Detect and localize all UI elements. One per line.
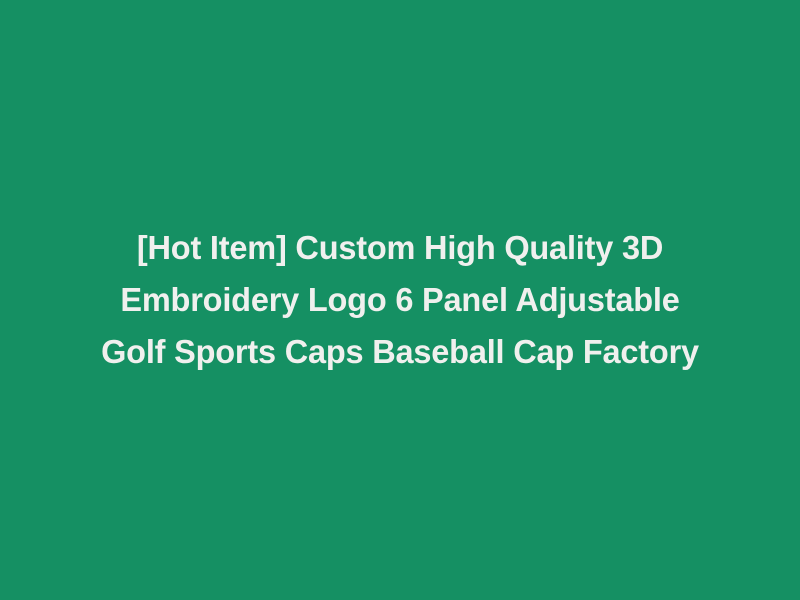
product-title: [Hot Item] Custom High Quality 3D Embroi… — [55, 222, 745, 378]
product-title-line-1: [Hot Item] Custom High Quality 3D — [55, 222, 745, 274]
product-title-line-3: Golf Sports Caps Baseball Cap Factory — [55, 326, 745, 378]
image-placeholder-card: [Hot Item] Custom High Quality 3D Embroi… — [0, 0, 800, 600]
product-title-line-2: Embroidery Logo 6 Panel Adjustable — [55, 274, 745, 326]
